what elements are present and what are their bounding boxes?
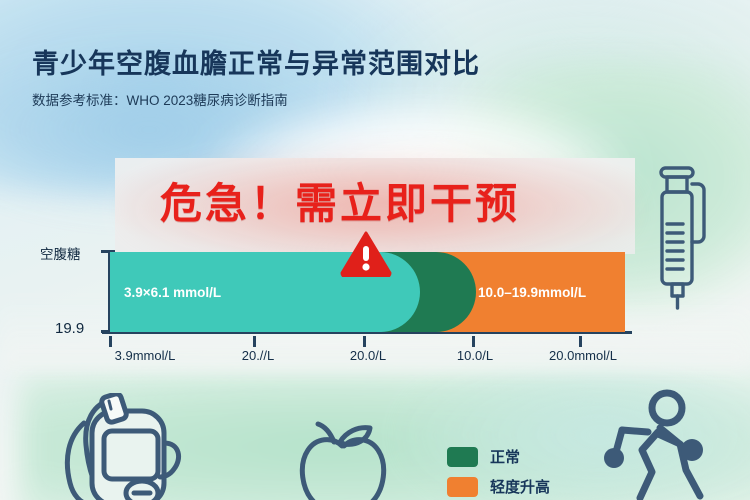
x-axis-label-5: 20.0mmol/L (549, 348, 617, 363)
x-tick-5 (579, 336, 582, 347)
chart-legend: 正常 轻度升高 (447, 446, 550, 500)
x-axis-label-1: 3.9mmol/L (115, 348, 176, 363)
x-axis-label-3: 20.0/L (350, 348, 386, 363)
x-tick-4 (472, 336, 475, 347)
bar-label-low: 3.9×6.1 mmol/L (110, 285, 221, 300)
legend-label-elevated: 轻度升高 (490, 476, 550, 497)
x-tick-3 (363, 336, 366, 347)
legend-label-normal: 正常 (490, 446, 520, 467)
glucose-meter-icon (62, 393, 187, 500)
x-axis-label-4: 10.0/L (457, 348, 493, 363)
y-axis-label-top: 空腹糖 (40, 243, 81, 263)
legend-item-elevated[interactable]: 轻度升高 (447, 476, 550, 497)
running-person-icon (600, 388, 730, 500)
legend-item-normal[interactable]: 正常 (447, 446, 550, 467)
x-tick-2 (253, 336, 256, 347)
apple-icon (288, 420, 398, 500)
x-tick-1 (109, 336, 112, 347)
x-axis-label-2: 20.//L (242, 348, 275, 363)
warning-triangle-icon (340, 231, 392, 277)
y-axis-label-bottom: 19.9 (55, 320, 84, 337)
legend-swatch-normal (447, 447, 478, 467)
legend-swatch-elevated (447, 477, 478, 497)
infographic-canvas: 青少年空腹血膽正常与异常范围对比 数据参考标准：WHO 2023糖尿病诊断指南 … (0, 0, 750, 500)
